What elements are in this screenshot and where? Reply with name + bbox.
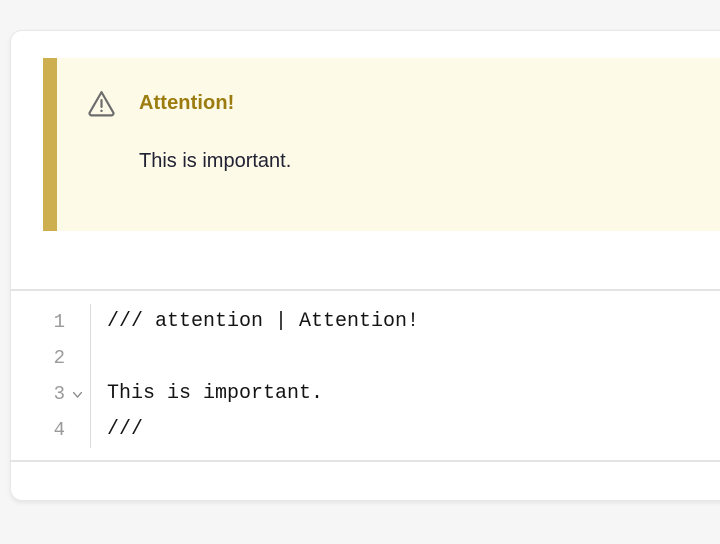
code-line[interactable]: 4 ///: [11, 412, 720, 448]
admonition-title: Attention!: [139, 93, 234, 113]
line-gutter[interactable]: 2: [11, 340, 90, 376]
line-gutter[interactable]: 3: [11, 376, 90, 412]
warning-triangle-icon: [86, 88, 117, 119]
code-line-text[interactable]: ///: [90, 412, 720, 448]
admonition-header: Attention!: [86, 86, 720, 120]
admonition-body-text: This is important.: [139, 151, 720, 171]
code-line[interactable]: 3 This is important.: [11, 376, 720, 412]
admonition-preview-region: Attention! This is important.: [11, 31, 720, 289]
fold-placeholder: [71, 316, 84, 329]
line-gutter[interactable]: 1: [11, 304, 90, 340]
code-line-text[interactable]: [90, 340, 720, 376]
preview-card: Attention! This is important. 1 /// atte…: [10, 30, 720, 501]
page-root: Attention! This is important. 1 /// atte…: [0, 0, 720, 544]
code-line[interactable]: 1 /// attention | Attention!: [11, 304, 720, 340]
fold-placeholder: [71, 424, 84, 437]
line-number: 4: [54, 412, 65, 448]
line-number: 2: [54, 340, 65, 376]
code-line-text[interactable]: /// attention | Attention!: [90, 304, 720, 340]
line-gutter[interactable]: 4: [11, 412, 90, 448]
line-number: 1: [54, 304, 65, 340]
card-footer: [11, 462, 720, 501]
code-editor-lines[interactable]: 1 /// attention | Attention! 2 3: [11, 304, 720, 448]
chevron-down-icon[interactable]: [71, 388, 84, 401]
line-number: 3: [54, 376, 65, 412]
code-editor[interactable]: 1 /// attention | Attention! 2 3: [11, 291, 720, 460]
code-line[interactable]: 2: [11, 340, 720, 376]
attention-admonition: Attention! This is important.: [43, 58, 720, 231]
code-line-text[interactable]: This is important.: [90, 376, 720, 412]
fold-placeholder: [71, 352, 84, 365]
